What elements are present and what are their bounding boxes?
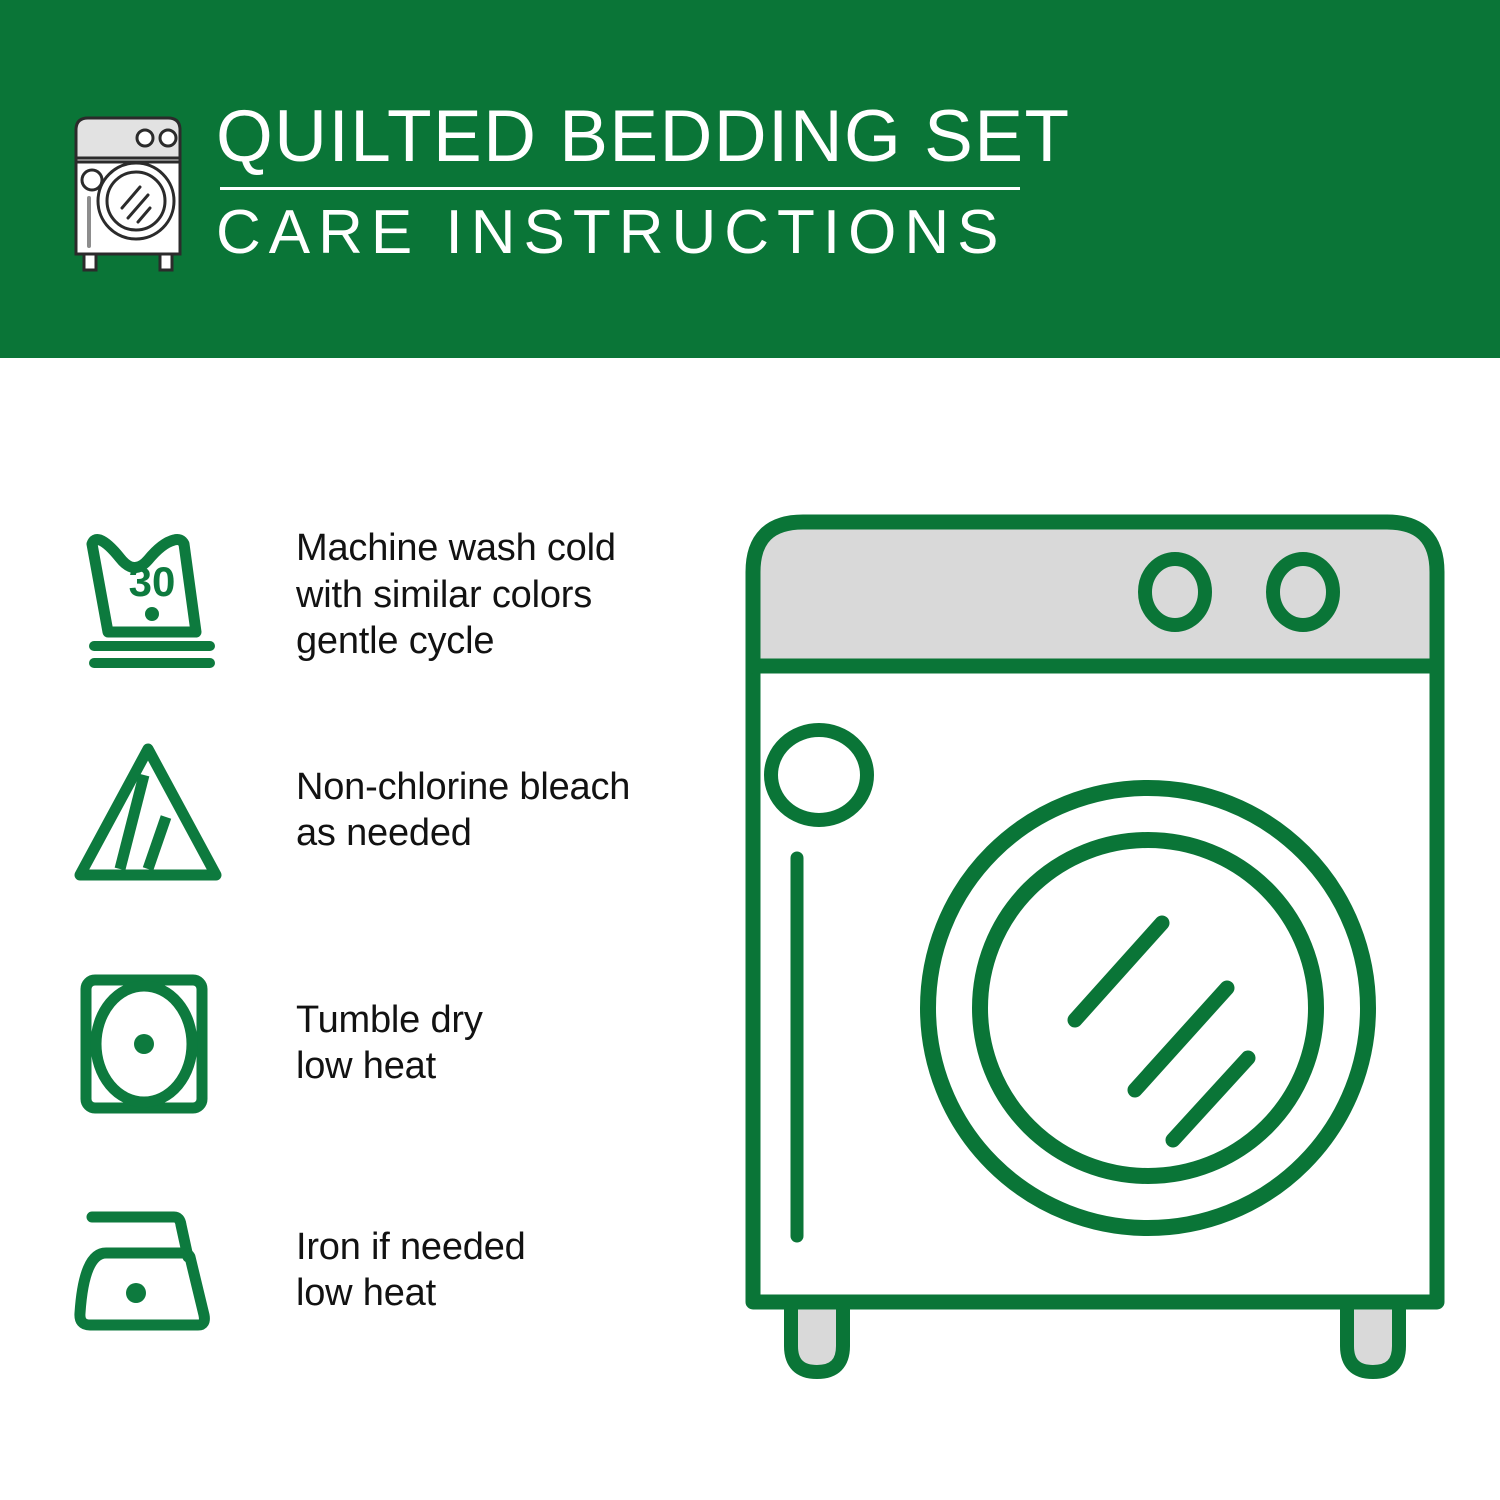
title-divider [220,187,1020,190]
control-knob-left [1145,559,1205,625]
care-row-bleach: Non-chlorine bleach as needed [70,735,710,885]
care-label-iron: Iron if needed low heat [296,1224,710,1317]
care-label-bleach: Non-chlorine bleach as needed [296,764,710,857]
wash-temperature-value: 30 [129,558,176,605]
header-band: QUILTED BEDDING SET CARE INSTRUCTIONS [0,0,1500,358]
detergent-dispenser-icon [771,730,867,820]
non-chlorine-bleach-triangle-icon [70,735,230,885]
washing-machine-logo-icon [62,104,194,274]
care-label-tumble-dry: Tumble dry low heat [296,997,710,1090]
header-title-block: QUILTED BEDDING SET CARE INSTRUCTIONS [216,100,1071,264]
door-inner-ring [980,840,1316,1176]
care-label-machine-wash: Machine wash cold with similar colors ge… [296,525,710,664]
control-knob-right [1273,559,1333,625]
care-instructions-page: QUILTED BEDDING SET CARE INSTRUCTIONS 30 [0,0,1500,1500]
header-content: QUILTED BEDDING SET CARE INSTRUCTIONS [62,100,1071,274]
iron-low-heat-icon [70,1195,230,1345]
front-load-washing-machine-illustration [735,480,1475,1440]
tumble-dry-low-heat-icon [70,968,230,1118]
care-row-iron: Iron if needed low heat [70,1195,710,1345]
page-title: QUILTED BEDDING SET [216,100,1071,173]
machine-wash-30-icon: 30 [70,520,230,670]
care-instructions-list: 30 Machine wash cold with similar colors… [0,360,730,1500]
care-row-machine-wash: 30 Machine wash cold with similar colors… [70,520,710,670]
care-row-tumble-dry: Tumble dry low heat [70,968,710,1118]
page-subtitle: CARE INSTRUCTIONS [216,202,1071,264]
